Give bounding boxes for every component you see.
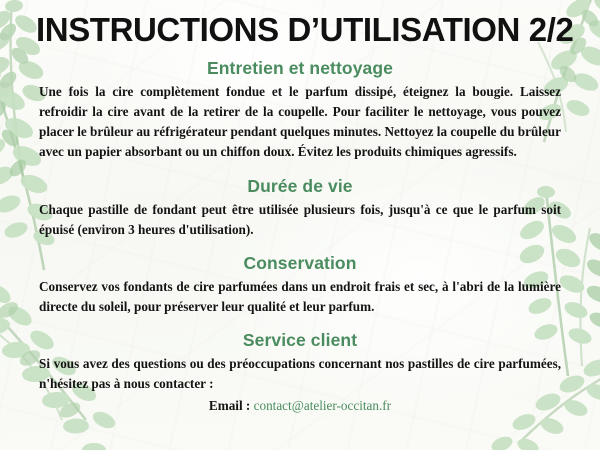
page-title: INSTRUCTIONS D’UTILISATION 2/2 [36,0,564,48]
section-entretien: Entretien et nettoyage Une fois la cire … [36,58,564,162]
section-conservation: Conservation Conservez vos fondants de c… [36,253,564,317]
section-heading-duree-de-vie: Durée de vie [36,176,564,197]
section-body-entretien: Une fois la cire complètement fondue et … [36,82,564,162]
contact-email-line: Email : contact@atelier-occitan.fr [36,396,564,416]
section-service-client: Service client Si vous avez des question… [36,330,564,416]
section-duree-de-vie: Durée de vie Chaque pastille de fondant … [36,176,564,240]
contact-email-label: Email : [209,398,250,413]
section-heading-entretien: Entretien et nettoyage [36,58,564,79]
poster-content: INSTRUCTIONS D’UTILISATION 2/2 Entretien… [0,0,600,450]
section-body-conservation: Conservez vos fondants de cire parfumées… [36,277,564,317]
section-body-duree-de-vie: Chaque pastille de fondant peut être uti… [36,200,564,240]
poster-page: INSTRUCTIONS D’UTILISATION 2/2 Entretien… [0,0,600,450]
section-heading-conservation: Conservation [36,253,564,274]
contact-email-address[interactable]: contact@atelier-occitan.fr [254,398,391,413]
section-heading-service-client: Service client [36,330,564,351]
section-body-service-client: Si vous avez des questions ou des préocc… [36,354,564,394]
